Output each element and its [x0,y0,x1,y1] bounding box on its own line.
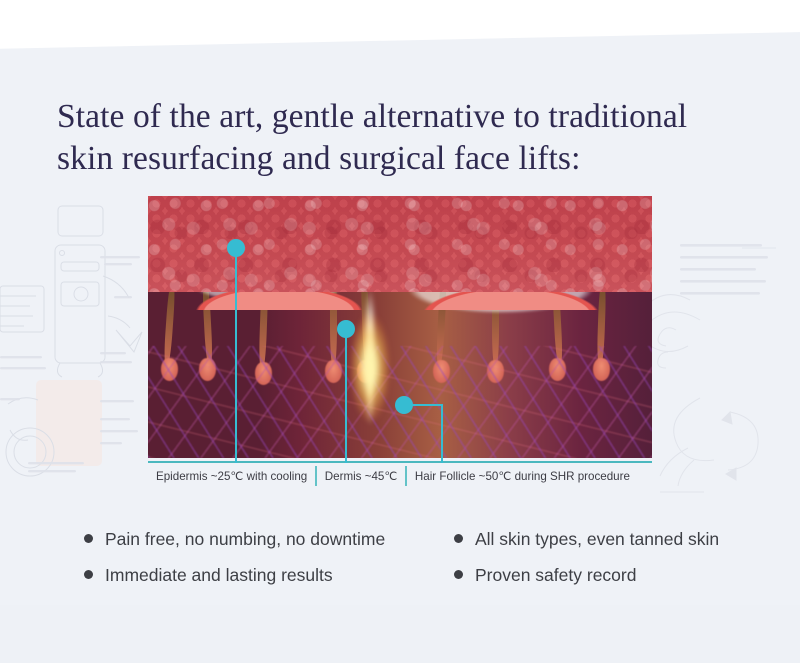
marker-line-epidermis [235,247,237,463]
bottom-band [0,605,800,663]
list-item: All skin types, even tanned skin [454,528,719,550]
caption-dermis: Dermis ~45℃ [317,463,406,489]
benefit-label: Immediate and lasting results [105,564,333,586]
benefits-column-left: Pain free, no numbing, no downtime Immed… [84,528,434,586]
bullet-dot-icon [84,570,93,579]
benefit-label: Proven safety record [475,564,636,586]
bullet-dot-icon [454,534,463,543]
list-item: Immediate and lasting results [84,564,434,586]
page-title-line-2: skin resurfacing and surgical face lifts… [57,138,757,180]
marker-epidermis[interactable] [227,239,245,257]
caption-hair-follicle: Hair Follicle ~50℃ during SHR procedure [407,463,638,489]
caption-bar: Epidermis ~25℃ with cooling Dermis ~45℃ … [148,463,652,489]
caption-epidermis: Epidermis ~25℃ with cooling [148,463,315,489]
benefits-list: Pain free, no numbing, no downtime Immed… [0,528,800,586]
caption-rule [148,461,652,463]
top-white-band [0,0,800,50]
marker-dermis[interactable] [337,320,355,338]
bullet-dot-icon [84,534,93,543]
epidermis-layer [148,196,652,292]
list-item: Pain free, no numbing, no downtime [84,528,434,550]
benefit-label: Pain free, no numbing, no downtime [105,528,385,550]
skin-cross-section-illustration [148,196,652,458]
list-item: Proven safety record [454,564,719,586]
page-title: State of the art, gentle alternative to … [57,96,757,180]
marker-line-dermis [345,328,347,463]
page-title-line-1: State of the art, gentle alternative to … [57,96,757,138]
benefit-label: All skin types, even tanned skin [475,528,719,550]
marker-line-hair-follicle-vertical [441,404,443,463]
bullet-dot-icon [454,570,463,579]
marker-hair-follicle[interactable] [395,396,413,414]
benefits-column-right: All skin types, even tanned skin Proven … [454,528,719,586]
